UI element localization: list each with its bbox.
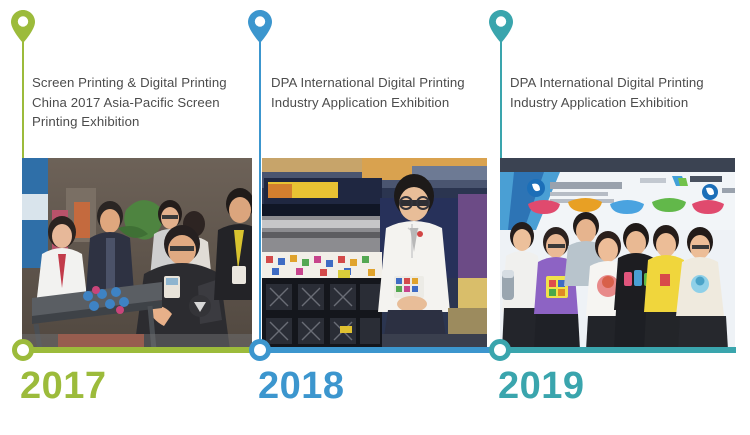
timeline-bar-2017 (22, 347, 262, 353)
timeline-bar-2019 (498, 347, 736, 353)
caption-2019: DPA International Digital Printing Indus… (510, 73, 720, 112)
year-label-2019: 2019 (498, 366, 585, 406)
photo-2018 (262, 158, 487, 350)
year-label-2018: 2018 (258, 366, 345, 406)
year-label-2017: 2017 (20, 366, 107, 406)
timeline-bar-2018 (258, 347, 502, 353)
map-pin-icon-2017 (8, 8, 38, 50)
map-pin-icon-2019 (486, 8, 516, 50)
caption-2017: Screen Printing & Digital Printing China… (32, 73, 248, 132)
timeline-node-icon-2019[interactable] (489, 339, 511, 361)
connector-line-2018 (259, 40, 261, 352)
timeline-infographic: Screen Printing & Digital Printing China… (0, 0, 750, 435)
map-pin-icon-2018 (245, 8, 275, 50)
photo-2017 (22, 158, 252, 350)
photo-2019 (500, 158, 735, 350)
timeline-node-icon-2018[interactable] (249, 339, 271, 361)
timeline-node-icon-2017[interactable] (12, 339, 34, 361)
caption-2018: DPA International Digital Printing Indus… (271, 73, 471, 112)
